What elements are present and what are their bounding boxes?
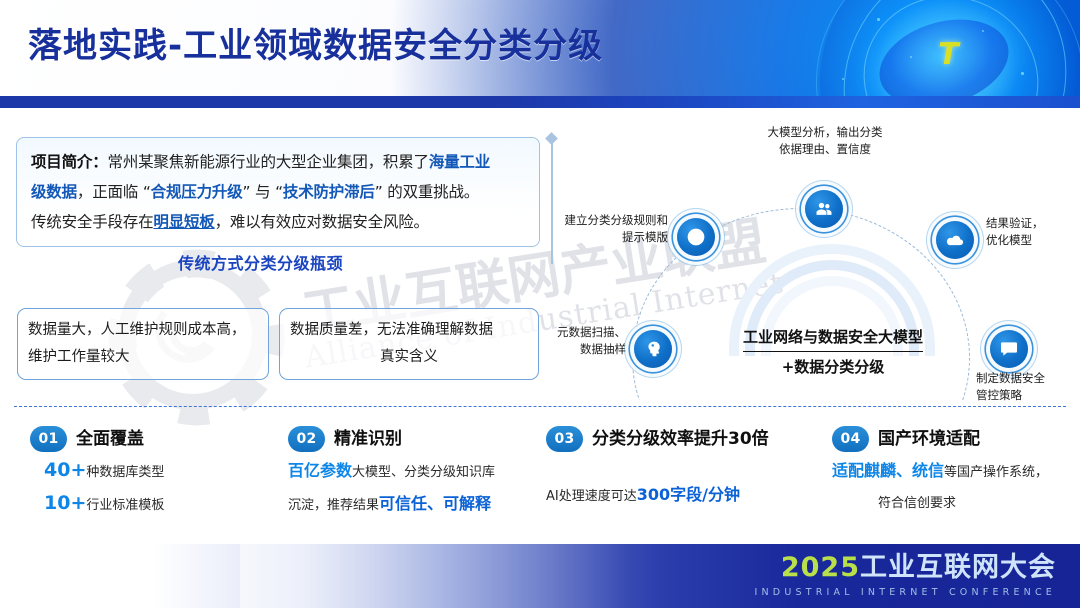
feature-01-text-1: 种数据库类型 xyxy=(86,465,164,480)
feature-02-metric-1: 百亿参数 xyxy=(288,461,352,480)
feature-03-head: 03 分类分级效率提升30倍 xyxy=(546,424,826,454)
feature-01-badge: 01 xyxy=(30,426,67,452)
feature-03-badge: 03 xyxy=(546,426,583,452)
feature-card-01: 01 全面覆盖 40+种数据库类型 10+行业标准模板 xyxy=(30,424,280,520)
feature-04-badge: 04 xyxy=(832,426,869,452)
feature-02-line-2: 沉淀，推荐结果可信任、可解释 xyxy=(288,489,538,520)
conference-logo-cn: 工业互联网大会 xyxy=(860,552,1056,583)
node-2-line-1: 大模型分析，输出分类 xyxy=(734,124,916,141)
intro-hl-4: 技术防护滞后 xyxy=(283,183,375,201)
footer-glow xyxy=(240,544,660,608)
diagram-node-2[interactable] xyxy=(805,190,843,228)
feature-01-head: 01 全面覆盖 xyxy=(30,424,280,454)
intro-text-2a: ，正面临 “ xyxy=(77,183,151,201)
diagram-node-3[interactable] xyxy=(936,221,974,259)
conference-logo-main: 2025工业互联网大会 xyxy=(755,554,1057,581)
brain-head-icon xyxy=(643,339,663,359)
feature-02-text-2: 沉淀，推荐结果 xyxy=(288,498,379,513)
intro-text-2c: ” 的双重挑战。 xyxy=(375,183,479,201)
bottleneck-box-1: 数据量大，人工维护规则成本高， 维护工作量较大 xyxy=(17,308,269,380)
feature-01-line-1: 40+种数据库类型 xyxy=(30,456,280,487)
conference-logo: 2025工业互联网大会 INDUSTRIAL INTERNET CONFEREN… xyxy=(755,554,1057,598)
feature-card-03: 03 分类分级效率提升30倍 AI处理速度可达300字段/分钟 xyxy=(546,424,826,511)
section-divider xyxy=(14,406,1066,407)
feature-04-head: 04 国产环境适配 xyxy=(832,424,1080,454)
feature-card-02: 02 精准识别 百亿参数大模型、分类分级知识库 沉淀，推荐结果可信任、可解释 xyxy=(288,424,538,520)
node-3-line-1: 结果验证， xyxy=(986,215,1080,232)
spark-dot xyxy=(982,30,984,32)
node-4-line-1: 元数据扫描、 xyxy=(496,324,626,341)
diagram-node-4-label: 元数据扫描、 数据抽样 xyxy=(496,324,626,358)
slide-root: T 落地实践-工业领域数据安全分类分级 工业互联网产业联盟 Alliance o… xyxy=(0,0,1080,608)
diagram-node-4[interactable] xyxy=(634,330,672,368)
page-title: 落地实践-工业领域数据安全分类分级 xyxy=(28,26,603,67)
intro-hl-2: 级数据 xyxy=(31,183,77,201)
header-bottom-band xyxy=(0,96,1080,108)
center-line-1: 工业网络与数据安全大模型 xyxy=(743,324,923,352)
bottleneck-box-1-line-1: 数据量大，人工维护规则成本高， xyxy=(28,317,258,344)
feature-02-badge: 02 xyxy=(288,426,325,452)
feature-02-metric-2: 可信任、可解释 xyxy=(379,494,491,513)
diagram-node-5[interactable] xyxy=(990,330,1028,368)
feature-04-text-1: 等国产操作系统， xyxy=(944,465,1048,480)
bottleneck-box-2-line-1: 数据质量差，无法准确理解数据 xyxy=(290,317,528,344)
node-5-line-2: 管控策略 xyxy=(976,387,1080,404)
users-icon xyxy=(814,199,834,219)
feature-03-text-1: AI处理速度可达 xyxy=(546,489,637,504)
feature-03-metric-1: 300字段/分钟 xyxy=(637,485,740,504)
conference-logo-sub: INDUSTRIAL INTERNET CONFERENCE xyxy=(755,588,1057,598)
center-line-2: +数据分类分级 xyxy=(690,352,976,382)
spark-dot xyxy=(1021,72,1024,75)
cloud-icon xyxy=(945,230,965,250)
bottleneck-title: 传统方式分类分级瓶颈 xyxy=(178,256,343,272)
feature-04-line-2: 符合信创要求 xyxy=(832,489,1080,518)
clock-icon xyxy=(686,227,706,247)
intro-hl-3: 合规压力升级 xyxy=(151,183,243,201)
spark-dot xyxy=(877,18,880,21)
intro-text-1a: 常州某聚焦新能源行业的大型企业集团，积累了 xyxy=(108,153,429,171)
spark-dot xyxy=(910,56,912,58)
node-1-line-1: 建立分类分级规则和 xyxy=(516,212,668,229)
intro-text-2b: ” 与 “ xyxy=(242,183,282,201)
feature-01-line-2: 10+行业标准模板 xyxy=(30,489,280,520)
intro-label: 项目简介： xyxy=(31,153,108,171)
feature-04-line-1: 适配麒麟、统信等国产操作系统， xyxy=(832,456,1080,487)
bottleneck-box-2-line-2: 真实含义 xyxy=(290,344,528,371)
intro-hl-1: 海量工业 xyxy=(429,153,490,171)
feature-cards: 01 全面覆盖 40+种数据库类型 10+行业标准模板 02 精准识别 百亿参数… xyxy=(0,424,1080,528)
feature-01-metric-1: 40+ xyxy=(44,459,86,481)
feature-03-line-1: AI处理速度可达300字段/分钟 xyxy=(546,480,826,511)
feature-02-head: 02 精准识别 xyxy=(288,424,538,454)
spark-dot xyxy=(842,78,844,80)
intro-text-3a: 传统安全手段存在 xyxy=(31,213,153,231)
feature-card-04: 04 国产环境适配 适配麒麟、统信等国产操作系统， 符合信创要求 xyxy=(832,424,1080,518)
node-3-line-2: 优化模型 xyxy=(986,232,1080,249)
project-intro-box: 项目简介：常州某聚焦新能源行业的大型企业集团，积累了海量工业 级数据，正面临 “… xyxy=(16,137,540,247)
conference-logo-year: 2025 xyxy=(781,552,860,583)
node-5-line-1: 制定数据安全 xyxy=(976,370,1080,387)
process-diagram: 工业网络与数据安全大模型 +数据分类分级 建立分类分级规则和 提示模版 大模型分… xyxy=(540,112,1080,408)
intro-line-2: 级数据，正面临 “合规压力升级” 与 “技术防护滞后” 的双重挑战。 xyxy=(31,177,527,207)
diagram-node-5-label: 制定数据安全 管控策略 xyxy=(976,370,1080,404)
feature-04-title: 国产环境适配 xyxy=(878,429,980,449)
slide-header: T 落地实践-工业领域数据安全分类分级 xyxy=(0,0,1080,108)
intro-line-1: 项目简介：常州某聚焦新能源行业的大型企业集团，积累了海量工业 xyxy=(31,147,527,177)
feature-01-title: 全面覆盖 xyxy=(76,429,144,449)
feature-01-text-2: 行业标准模板 xyxy=(86,498,164,513)
diagram-center-label: 工业网络与数据安全大模型 +数据分类分级 xyxy=(690,324,976,382)
node-4-line-2: 数据抽样 xyxy=(496,341,626,358)
feature-02-line-1: 百亿参数大模型、分类分级知识库 xyxy=(288,456,538,487)
feature-04-metric-1: 适配麒麟、统信 xyxy=(832,461,944,480)
diagram-node-1-label: 建立分类分级规则和 提示模版 xyxy=(516,212,668,246)
feature-02-text-1: 大模型、分类分级知识库 xyxy=(352,465,495,480)
node-2-line-2: 依据理由、置信度 xyxy=(734,141,916,158)
diagram-node-1[interactable] xyxy=(677,218,715,256)
intro-text-3b: ，难以有效应对数据安全风险。 xyxy=(215,213,429,231)
slide-footer: 2025工业互联网大会 INDUSTRIAL INTERNET CONFEREN… xyxy=(0,544,1080,608)
node-1-line-2: 提示模版 xyxy=(516,229,668,246)
chat-bubble-icon xyxy=(999,339,1019,359)
diagram-node-2-label: 大模型分析，输出分类 依据理由、置信度 xyxy=(734,124,916,158)
bottleneck-box-1-line-2: 维护工作量较大 xyxy=(28,344,258,371)
feature-02-title: 精准识别 xyxy=(334,429,402,449)
intro-line-3: 传统安全手段存在明显短板，难以有效应对数据安全风险。 xyxy=(31,207,527,237)
feature-01-metric-2: 10+ xyxy=(44,492,86,514)
feature-03-title: 分类分级效率提升30倍 xyxy=(592,429,769,449)
diagram-node-3-label: 结果验证， 优化模型 xyxy=(986,215,1080,249)
intro-hl-5: 明显短板 xyxy=(153,213,214,231)
